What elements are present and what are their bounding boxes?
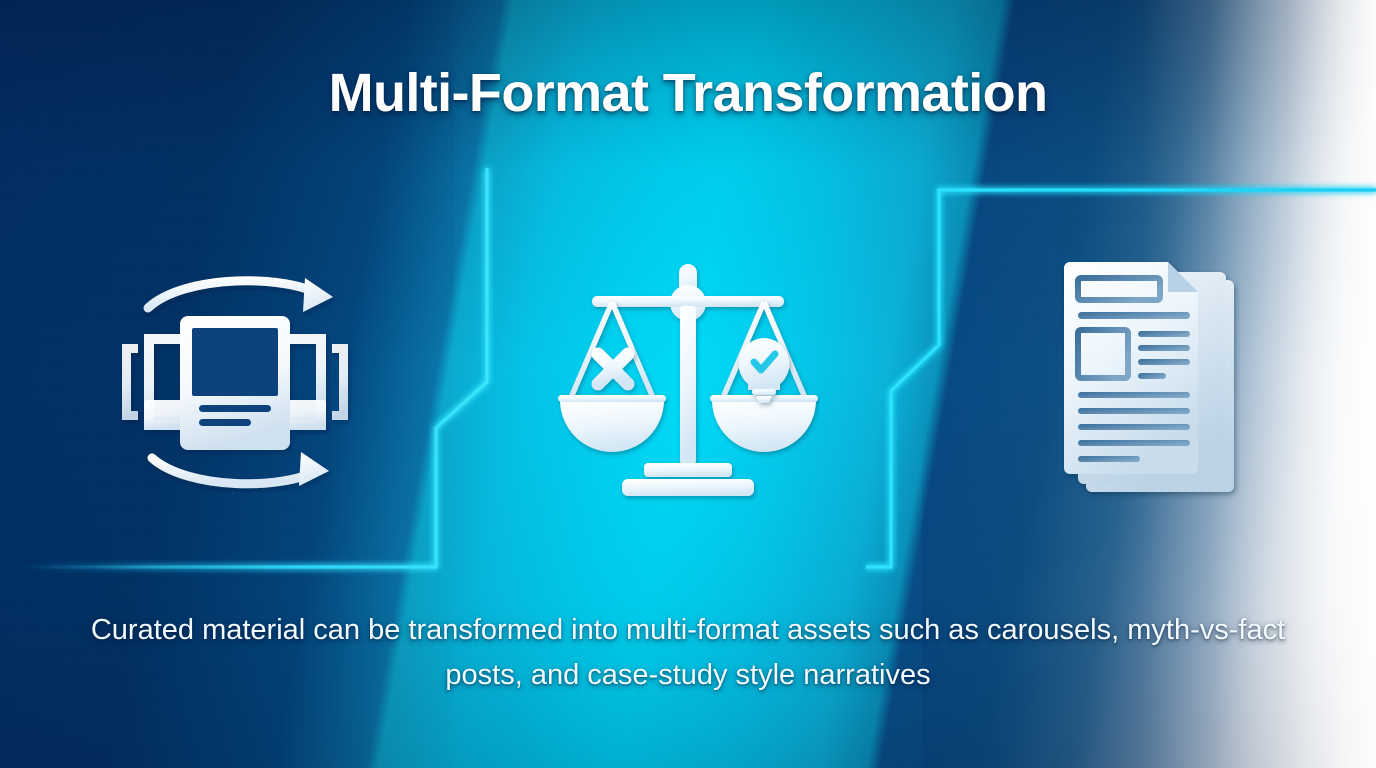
document-stack-icon <box>1052 252 1256 516</box>
x-mark-icon <box>598 354 628 384</box>
lightbulb-check-icon <box>739 338 790 403</box>
rotate-arrow-bottom <box>152 452 329 486</box>
rotate-arrow-top <box>148 278 333 312</box>
balance-scale-icon <box>556 258 820 510</box>
slide-canvas: Multi-Format Transformation <box>0 0 1376 768</box>
slide-title: Multi-Format Transformation <box>0 62 1376 124</box>
slide-caption: Curated material can be transformed into… <box>78 608 1298 698</box>
carousel-icon <box>100 272 370 492</box>
